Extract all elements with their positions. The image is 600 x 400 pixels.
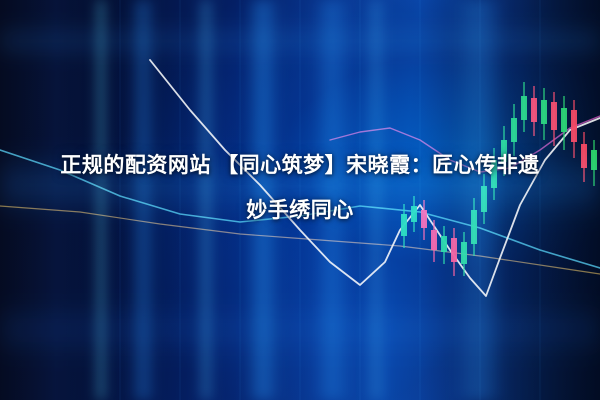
- banner-image: 正规的配资网站 【同心筑梦】宋晓霞：匠心传非遗 妙手绣同心: [0, 0, 600, 400]
- headline-line-2: 妙手绣同心: [0, 190, 600, 232]
- headline-line-1: 正规的配资网站 【同心筑梦】宋晓霞：匠心传非遗: [0, 145, 600, 187]
